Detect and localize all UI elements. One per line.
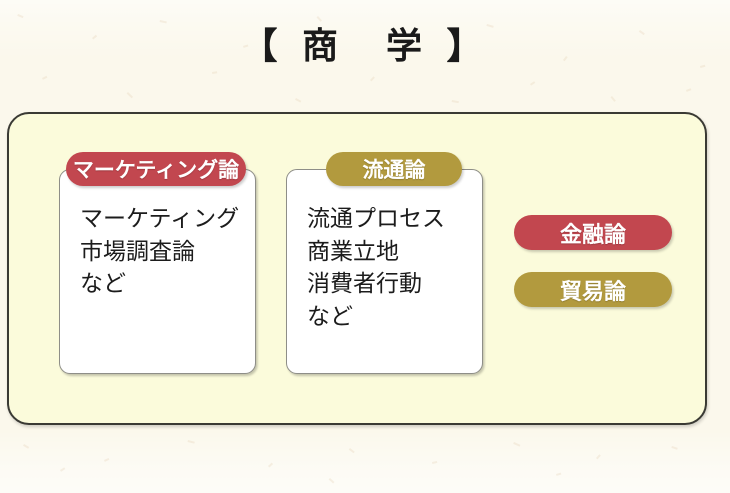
list-item: 商業立地	[307, 236, 482, 269]
page-title: 【 商 学 】	[0, 24, 730, 69]
marketing-topic-list: マーケティング 市場調査論 など	[60, 170, 255, 301]
list-item: 消費者行動	[307, 268, 482, 301]
badge-distribution-theory[interactable]: 流通論	[326, 152, 462, 186]
card-marketing: マーケティング 市場調査論 など	[59, 169, 256, 374]
badge-marketing-theory[interactable]: マーケティング論	[66, 152, 246, 186]
badge-trade-theory[interactable]: 貿易論	[514, 272, 672, 307]
list-item: 流通プロセス	[307, 203, 482, 236]
badge-finance-theory[interactable]: 金融論	[514, 215, 672, 250]
diagram-page: 【 商 学 】 マーケティング論 マーケティング 市場調査論 など 流通論 流通…	[0, 0, 730, 493]
distribution-topic-list: 流通プロセス 商業立地 消費者行動 など	[287, 170, 482, 334]
list-item: マーケティング	[80, 203, 255, 236]
list-item: 市場調査論	[80, 236, 255, 269]
list-item: など	[80, 268, 255, 301]
list-item: など	[307, 301, 482, 334]
card-distribution: 流通プロセス 商業立地 消費者行動 など	[286, 169, 483, 374]
